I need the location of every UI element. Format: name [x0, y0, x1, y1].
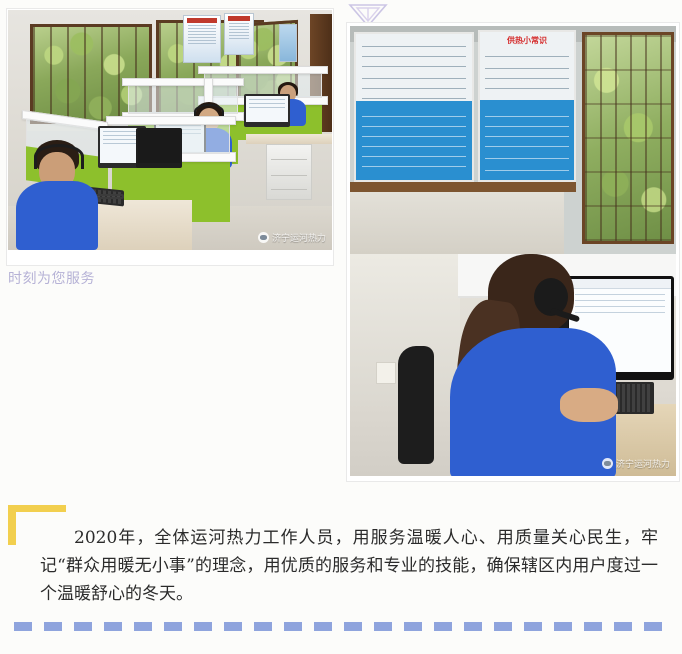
poster-title: 供热小常识 — [480, 35, 574, 46]
left-photo-call-center[interactable]: 济宁运河热力 — [8, 10, 332, 250]
lower-wall — [350, 192, 564, 254]
info-poster-left — [354, 32, 474, 182]
poster-wall-scene: 供热小常识 — [350, 26, 676, 254]
watermark-logo-icon — [258, 232, 269, 243]
article-page: 济宁运河热力 时刻为您服务 — [0, 0, 682, 654]
left-photo-caption: 时刻为您服务 — [8, 268, 95, 288]
monitor — [136, 128, 182, 168]
notice-board — [183, 15, 221, 63]
right-photo-operator[interactable]: 供热小常识 — [350, 26, 676, 476]
watermark: 济宁运河热力 — [602, 457, 670, 470]
article-paragraph: 2020年，全体运河热力工作人员，用服务温暖人心、用质量关心民生，牢记“群众用暖… — [40, 524, 658, 608]
dashed-divider — [14, 622, 672, 631]
operator-scene — [350, 254, 676, 476]
notice-board — [279, 24, 297, 62]
window-ledge — [350, 182, 576, 192]
power-socket-icon — [376, 362, 396, 384]
barred-window-icon — [582, 32, 674, 244]
hand — [560, 388, 618, 422]
watermark: 济宁运河热力 — [258, 231, 326, 244]
monitor — [244, 94, 290, 127]
watermark-logo-icon — [602, 458, 613, 469]
watermark-text: 济宁运河热力 — [616, 457, 670, 470]
watermark-text: 济宁运河热力 — [272, 231, 326, 244]
office-chair — [398, 346, 434, 464]
info-poster-right: 供热小常识 — [478, 30, 576, 182]
staff-member-foreground — [16, 146, 98, 250]
operator — [442, 256, 614, 476]
notice-board — [224, 13, 254, 55]
